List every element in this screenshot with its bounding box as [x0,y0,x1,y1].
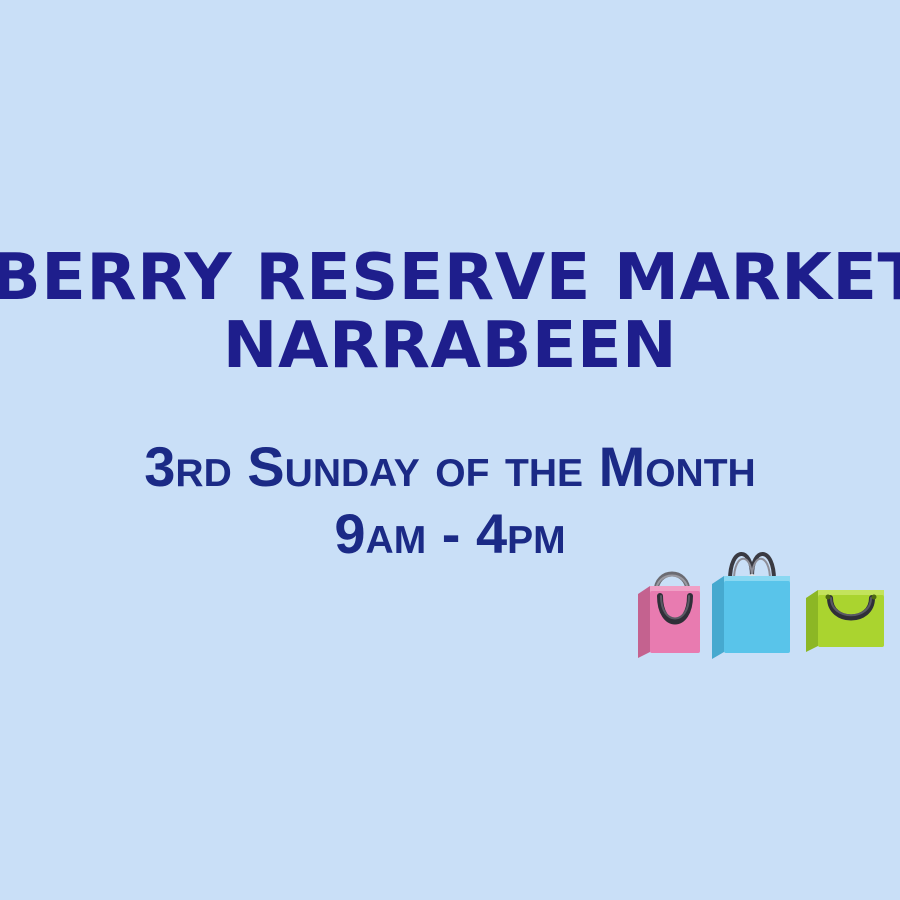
page-title: BERRY RESERVE MARKET NARRABEEN [0,246,900,378]
headline-line-market-name: BERRY RESERVE MARKET [0,246,900,310]
schedule-frequency: 3rd Sunday of the Month [0,438,900,497]
pink-shopping-bag-icon [630,548,710,663]
market-poster: BERRY RESERVE MARKET NARRABEEN 3rd Sunda… [0,0,900,900]
green-shopping-bag-icon [802,566,890,658]
blue-shopping-bag-icon [706,532,798,664]
headline-line-suburb: NARRABEEN [0,314,900,378]
